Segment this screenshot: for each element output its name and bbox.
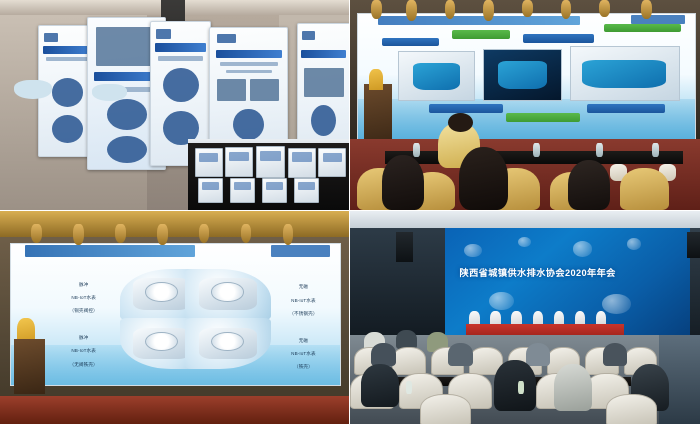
banner-logo-icon (44, 33, 59, 42)
water-bottle (413, 143, 420, 158)
ceiling-lantern (522, 0, 533, 17)
water-meter-graphic (413, 63, 460, 90)
banner-photo (217, 79, 246, 101)
panel-product-presentation (350, 0, 700, 210)
face-mask (92, 84, 127, 101)
stage-carpet (0, 396, 349, 424)
banner-subline (220, 62, 278, 66)
ceiling-lantern (641, 0, 652, 19)
caption-line-3: （不锈钢壳） (271, 311, 337, 318)
ceiling-speaker (687, 232, 700, 258)
product-box (225, 147, 253, 177)
caption-line-2: NB-IoT水表 (271, 298, 337, 305)
ceiling-lantern (561, 0, 572, 19)
podium (364, 84, 392, 139)
water-bottle (533, 143, 540, 158)
water-bottle (596, 143, 603, 158)
ceiling-lantern (73, 224, 83, 245)
caption-line-2: NB-IoT水表 (51, 348, 117, 355)
speaker (369, 69, 383, 90)
meter-caption-bottom-left: 脉冲 NB-IoT水表 （无阀铁壳） (51, 328, 117, 375)
banner-circle-graphic (233, 109, 264, 141)
product-box (288, 148, 316, 178)
meter-thumb-top-right (185, 269, 270, 320)
product-box (195, 148, 223, 177)
meter-caption-bottom-right: 无磁 NB-IoT水表 （铁壳） (271, 331, 337, 378)
conference-seat (420, 394, 471, 424)
banner-subline (158, 56, 203, 60)
bubble-graphic (518, 237, 530, 247)
banner-headline (301, 50, 346, 58)
photo-collage: 脉冲 NB-IoT水表 （铜壳阀控） 无磁 NB-IoT水表 （不锈钢壳） 脉冲… (0, 0, 700, 423)
product-box (294, 178, 318, 203)
panel-conference-hall: 陕西省城镇供水排水协会2020年年会 (350, 211, 700, 424)
caption-line-3: （铁壳） (271, 364, 337, 371)
delegate (554, 364, 593, 411)
product-image-3 (570, 46, 680, 101)
product-box (230, 178, 254, 203)
feature-label-low-total-cost (587, 104, 664, 113)
podium (14, 339, 45, 394)
delegate (526, 343, 551, 366)
slide-title-bar (25, 245, 196, 256)
delegate (371, 343, 396, 366)
conference-seat (392, 347, 426, 375)
ceiling-lantern (283, 224, 293, 245)
caption-line-2: NB-IoT水表 (51, 295, 117, 302)
bubble-graphic (627, 238, 642, 250)
banner-photo (96, 27, 157, 66)
banner-logo-icon (156, 29, 171, 39)
meter-dial (211, 282, 244, 301)
panel-exhibition-booth (0, 0, 349, 210)
banner-photo (250, 79, 279, 101)
banner-headline (43, 46, 91, 54)
rollup-banner-5 (297, 23, 349, 155)
banner-subline (226, 70, 272, 74)
feature-label-nbiot-wireless (604, 24, 681, 33)
product-box (262, 178, 286, 203)
banner-headline (155, 43, 206, 52)
panel-meter-lineup: 脉冲 NB-IoT水表 （铜壳阀控） 无磁 NB-IoT水表 （不锈钢壳） 脉冲… (0, 211, 349, 424)
feature-label-air-water-separation (452, 30, 509, 39)
product-image-2 (483, 49, 562, 101)
banner-photo (304, 68, 344, 97)
feature-label-safe-no-pollution (506, 113, 580, 122)
meter-caption-top-left: 脉冲 NB-IoT水表 （铜壳阀控） (51, 275, 117, 322)
banner-circle-graphic (163, 68, 199, 102)
ceiling-speaker (396, 232, 414, 262)
caption-line-1: 无磁 (271, 338, 337, 345)
product-image-1 (398, 51, 474, 101)
feature-label-remote-monitoring (429, 104, 503, 113)
water-meter-graphic (582, 60, 666, 88)
meter-caption-top-right: 无磁 NB-IoT水表 （不锈钢壳） (271, 278, 337, 325)
banner-circle-graphic (311, 105, 336, 136)
face-mask (14, 80, 52, 99)
rollup-banner-4 (209, 27, 288, 151)
bubble-graphic (573, 241, 593, 257)
banner-headline (216, 50, 282, 57)
water-meter-graphic (498, 61, 548, 89)
bubble-graphic (602, 294, 631, 314)
meter-dial (211, 332, 244, 351)
ceiling-lantern (371, 0, 382, 19)
caption-line-1: 无磁 (271, 284, 337, 291)
slide-logo-icon (631, 15, 685, 24)
display-table (188, 143, 349, 210)
ceiling-lantern (115, 224, 125, 243)
feature-label-wireless-sensor (382, 38, 439, 47)
banner-subline (46, 57, 88, 61)
feature-label-bidirectional-metering (523, 34, 594, 43)
banner-logo-icon (302, 31, 316, 40)
delegate (603, 343, 628, 366)
slide-logo-icon (271, 245, 330, 256)
delegate (361, 364, 400, 407)
water-bottle (652, 143, 659, 158)
banner-logo-icon (217, 34, 237, 43)
ceiling-lantern (599, 0, 610, 17)
ceiling-lantern (31, 224, 41, 243)
led-backdrop: 陕西省城镇供水排水协会2020年年会 (445, 228, 691, 339)
ceiling-lantern (483, 0, 494, 21)
bubble-graphic (464, 244, 481, 257)
caption-line-3: （无阀铁壳） (51, 362, 117, 369)
delegate (494, 360, 536, 411)
banner-circle-graphic (52, 115, 83, 144)
gold-ceiling (0, 211, 349, 237)
product-box (256, 146, 285, 178)
ceiling-lantern (157, 224, 167, 245)
caption-line-2: NB-IoT水表 (271, 351, 337, 358)
product-box (198, 178, 222, 203)
bubble-graphic (489, 292, 514, 310)
caption-line-3: （铜壳阀控） (51, 308, 117, 315)
water-bottle (406, 381, 412, 394)
presentation-screen: 脉冲 NB-IoT水表 （铜壳阀控） 无磁 NB-IoT水表 （不锈钢壳） 脉冲… (10, 243, 340, 386)
product-box (318, 148, 346, 177)
presentation-screen (357, 13, 696, 141)
ceiling-lantern (445, 0, 456, 19)
ceiling-lantern (241, 224, 251, 243)
conference-banner-title: 陕西省城镇供水排水协会2020年年会 (460, 265, 681, 279)
caption-line-1: 脉冲 (51, 282, 117, 289)
ceiling-lantern (406, 0, 417, 21)
delegate (448, 343, 473, 366)
audience-member (568, 160, 610, 210)
water-bottle (518, 381, 524, 394)
banner-circle-graphic (52, 78, 83, 107)
caption-line-1: 脉冲 (51, 335, 117, 342)
audience-chair (620, 168, 669, 210)
banner-circle-graphic (107, 136, 147, 163)
meter-dial (145, 332, 178, 351)
audience-member (382, 155, 424, 210)
banner-circle-graphic (107, 99, 147, 129)
meter-dial (145, 282, 178, 301)
conference-seat (606, 394, 657, 424)
audience-member (459, 147, 508, 210)
